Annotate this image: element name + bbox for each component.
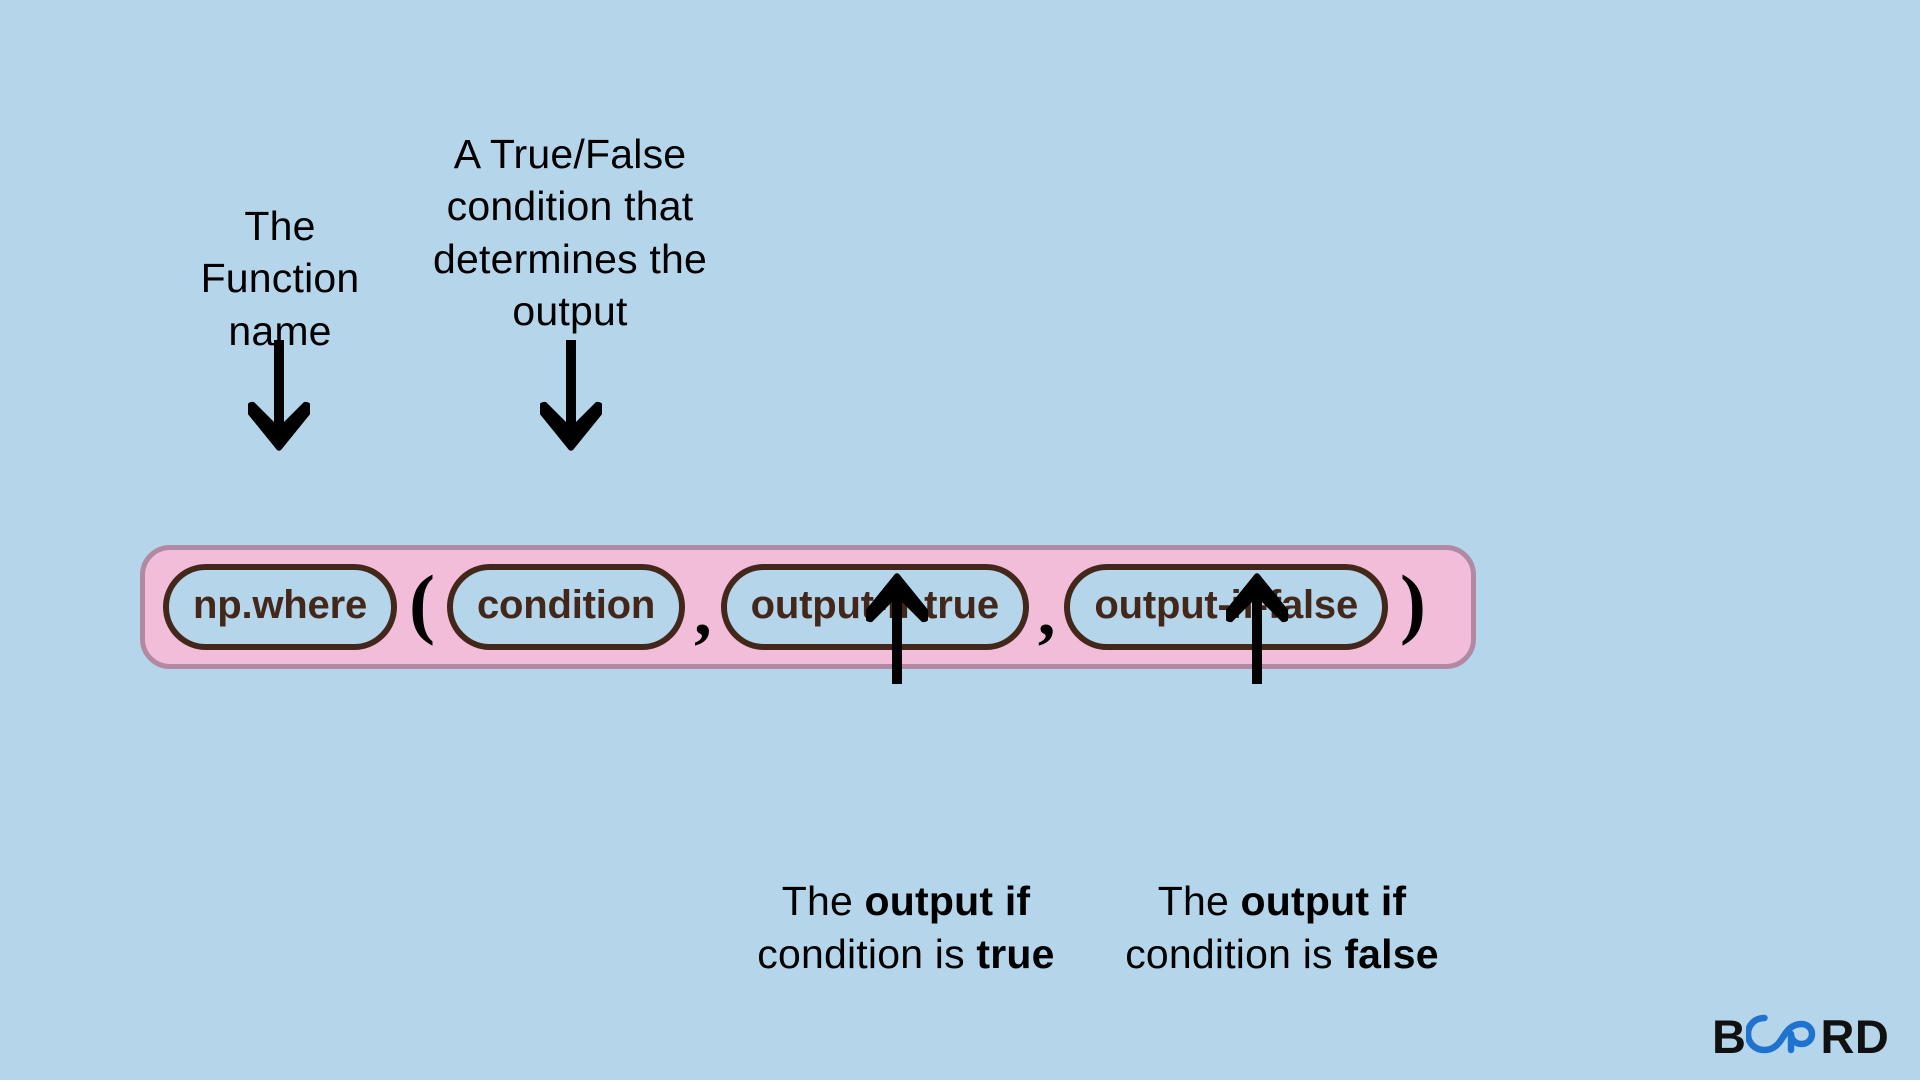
- annotation-condition: A True/False condition that determines t…: [400, 128, 740, 338]
- board-logo[interactable]: B RD: [1712, 1009, 1889, 1063]
- comma-1: ,: [685, 578, 721, 648]
- diagram-canvas: The Function name A True/False condition…: [0, 0, 1920, 1080]
- annot-false-bold2: false: [1344, 931, 1438, 977]
- pill-condition[interactable]: condition: [447, 564, 685, 650]
- annot-true-bold1: output if: [865, 878, 1031, 924]
- infinity-mark-icon: [1746, 1010, 1820, 1063]
- pill-function-name[interactable]: np.where: [163, 564, 397, 650]
- annot-false-middle: condition is: [1125, 931, 1344, 977]
- annot-false-prefix: The: [1158, 878, 1241, 924]
- annot-true-prefix: The: [782, 878, 865, 924]
- annotation-output-if-true: The output if condition is true: [720, 823, 1092, 980]
- arrow-down-to-condition-icon: [540, 340, 602, 457]
- annotation-function-name: The Function name: [150, 200, 410, 357]
- logo-text-rd: RD: [1820, 1013, 1889, 1060]
- pill-label-condition: condition: [477, 585, 655, 625]
- close-paren: ): [1388, 564, 1438, 642]
- arrow-up-to-output-if-true-icon: [866, 572, 928, 689]
- annot-true-bold2: true: [976, 931, 1054, 977]
- comma-2: ,: [1029, 578, 1065, 648]
- annotation-output-if-false: The output if condition is false: [1096, 823, 1468, 980]
- annot-false-bold1: output if: [1241, 878, 1407, 924]
- logo-text-b: B: [1712, 1013, 1746, 1060]
- open-paren: (: [397, 564, 447, 642]
- pill-label-np-where: np.where: [193, 585, 367, 625]
- annot-true-middle: condition is: [757, 931, 976, 977]
- arrow-up-to-output-if-false-icon: [1226, 572, 1288, 689]
- arrow-down-to-function-icon: [248, 340, 310, 457]
